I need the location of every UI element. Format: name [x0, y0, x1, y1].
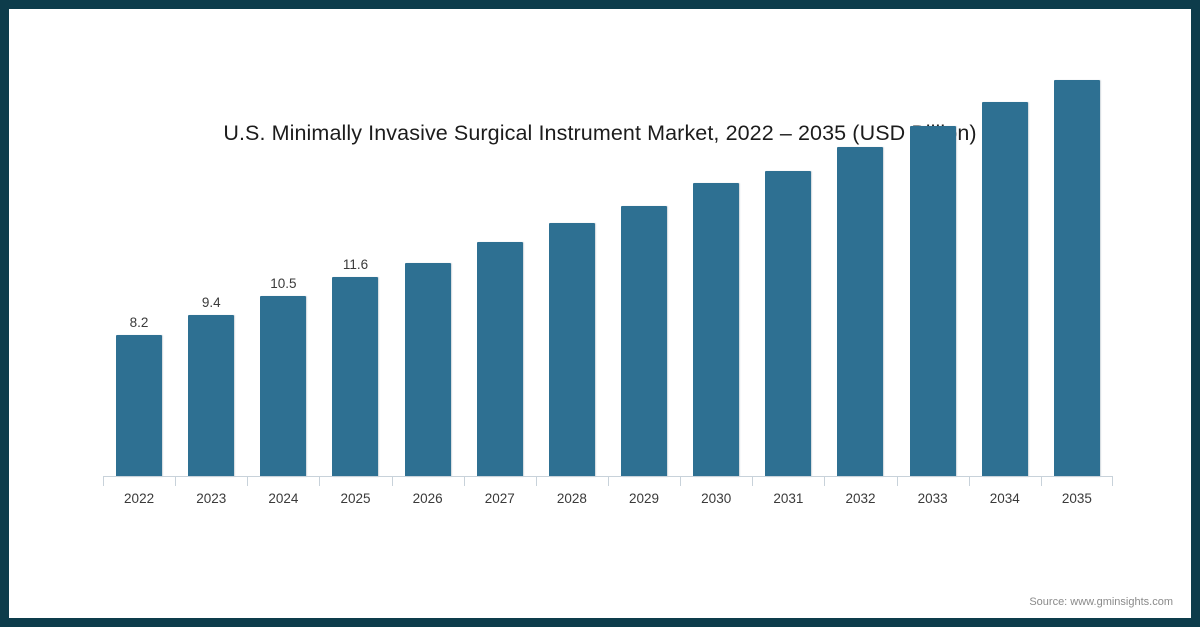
x-axis-tick: 2023 [175, 477, 247, 513]
bar[interactable] [116, 335, 162, 477]
bar[interactable] [477, 242, 523, 477]
bar-group [392, 49, 464, 477]
bar-group: 10.5 [247, 49, 319, 477]
x-axis-tick-label: 2022 [103, 477, 175, 506]
x-axis-tick-label: 2025 [319, 477, 391, 506]
bar[interactable] [1054, 80, 1100, 477]
bar-group [536, 49, 608, 477]
bar[interactable] [188, 315, 234, 477]
bar[interactable] [405, 263, 451, 477]
x-axis-tick-label: 2034 [969, 477, 1041, 506]
bar[interactable] [765, 171, 811, 477]
bar[interactable] [910, 126, 956, 477]
bar-group: 11.6 [319, 49, 391, 477]
x-axis-tick-label: 2027 [464, 477, 536, 506]
x-axis-tick: 2029 [608, 477, 680, 513]
bar[interactable] [693, 183, 739, 477]
x-axis-tick-label: 2031 [752, 477, 824, 506]
bar[interactable] [332, 277, 378, 477]
x-axis-tick: 2033 [897, 477, 969, 513]
bar-value-label: 9.4 [202, 296, 221, 310]
x-axis-tick: 2026 [392, 477, 464, 513]
bar-group [464, 49, 536, 477]
x-axis-tick: 2022 [103, 477, 175, 513]
x-axis-tick-label: 2024 [247, 477, 319, 506]
bar[interactable] [260, 296, 306, 477]
bar-group [897, 49, 969, 477]
x-axis-tick: 2028 [536, 477, 608, 513]
chart-figure: U.S. Minimally Invasive Surgical Instrum… [0, 0, 1200, 627]
bar-group [969, 49, 1041, 477]
bar[interactable] [621, 206, 667, 477]
bar-value-label: 11.6 [343, 258, 368, 272]
x-axis-tick-label: 2028 [536, 477, 608, 506]
x-axis-tick: 2027 [464, 477, 536, 513]
bar[interactable] [837, 147, 883, 477]
bar-group: 8.2 [103, 49, 175, 477]
x-axis-tick-label: 2029 [608, 477, 680, 506]
x-axis-tick: 2025 [319, 477, 391, 513]
bar-group [608, 49, 680, 477]
x-axis-tick: 2031 [752, 477, 824, 513]
x-axis-tick: 2024 [247, 477, 319, 513]
bar-value-label: 8.2 [130, 316, 149, 330]
bar-group [680, 49, 752, 477]
x-axis-tick-label: 2032 [824, 477, 896, 506]
x-axis-tick-label: 2026 [392, 477, 464, 506]
bar-series: 8.29.410.511.6 [103, 49, 1113, 477]
bar-value-label: 10.5 [270, 277, 296, 291]
bar[interactable] [549, 223, 595, 477]
bar-group: 9.4 [175, 49, 247, 477]
x-axis-tick: 2034 [969, 477, 1041, 513]
x-axis-tick-label: 2030 [680, 477, 752, 506]
x-axis-tick: 2030 [680, 477, 752, 513]
bar-group [752, 49, 824, 477]
bar-group [824, 49, 896, 477]
source-attribution: Source: www.gminsights.com [1029, 596, 1173, 608]
bar-group [1041, 49, 1113, 477]
x-axis-tick: 2032 [824, 477, 896, 513]
x-axis-tick-label: 2035 [1041, 477, 1113, 506]
x-axis-tick: 2035 [1041, 477, 1113, 513]
bar[interactable] [982, 102, 1028, 477]
x-axis-tick-label: 2033 [897, 477, 969, 506]
x-axis-tick-label: 2023 [175, 477, 247, 506]
x-axis-tick-labels: 2022202320242025202620272028202920302031… [103, 477, 1113, 513]
plot-area: 8.29.410.511.6 [103, 49, 1113, 477]
